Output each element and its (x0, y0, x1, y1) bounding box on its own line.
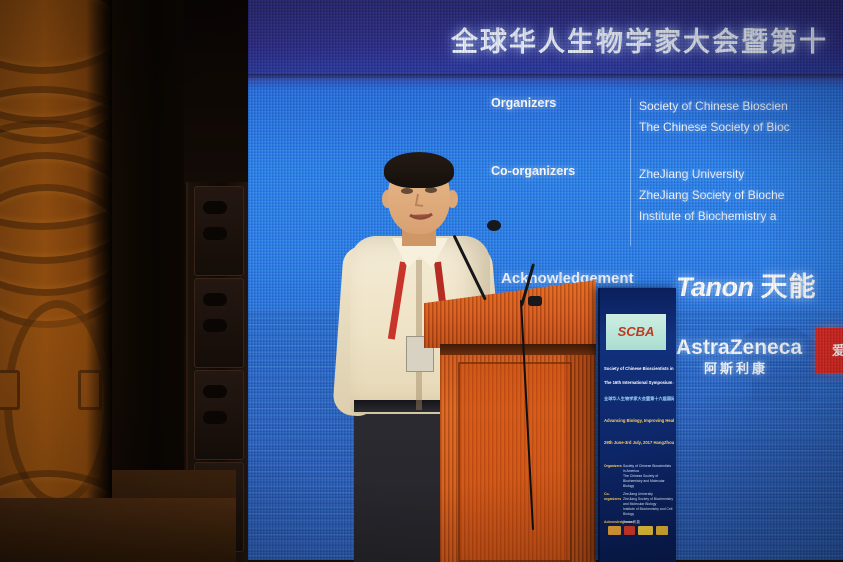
speaker-cabinet (194, 370, 244, 460)
mini-sponsor-logo (656, 526, 668, 535)
banner-ack-vals: Tanon 天能 (623, 520, 674, 525)
banner-line-1: Society of Chinese Bioscientists in Amer… (604, 366, 674, 372)
podium-banner: SCBA Society of Chinese Bioscientists in… (598, 288, 676, 562)
mini-sponsor-logo (608, 526, 621, 535)
banner-coorg-entry: ZheJiang Society of Biochemistry and Mol… (623, 497, 674, 507)
panel-clip-left (0, 370, 20, 410)
microphone-base (528, 296, 542, 306)
scba-logo: SCBA (606, 314, 666, 350)
person-hair (384, 152, 454, 188)
mini-sponsor-logo (624, 526, 635, 535)
banner-ack-entry: Tanon 天能 (623, 520, 674, 525)
banner-line-2: The 16th International Symposium (2017 S… (604, 380, 674, 386)
banner-organizers-row: Organizers Society of Chinese Bioscienti… (604, 464, 674, 489)
banner-lower-block: Organizers Society of Chinese Bioscienti… (604, 464, 674, 528)
conference-photo-scene: 全球华人生物学家大会暨第十 Organizers Society of Chin… (0, 0, 843, 562)
banner-line-5: 29th June-3rd July, 2017 HangZhou, China (604, 440, 674, 446)
mini-sponsor-logo (638, 526, 653, 535)
podium-front-inset (458, 362, 572, 562)
banner-line-4: Advancing Biology, Improving Health (604, 418, 674, 424)
banner-ack-key: Acknowledgement (604, 520, 620, 525)
banner-acknowledgement-row: Acknowledgement Tanon 天能 (604, 520, 674, 525)
podium-lip (440, 344, 596, 355)
shirt-placket (416, 260, 422, 410)
banner-line-3: 全球华人生物学家大会暨第十六届国际学术研讨会 (604, 396, 674, 402)
panel-edge-shadow (86, 0, 112, 562)
banner-sponsor-logo-row (608, 526, 668, 535)
banner-co-organizers-key: Co-organizers (604, 492, 620, 517)
banner-co-organizers-row: Co-organizers ZheJiang University ZheJia… (604, 492, 674, 517)
banner-coorg-entry: Institute of Biochemistry and Cell Biolo… (623, 507, 674, 517)
ornate-wall-panel (0, 0, 112, 562)
speaker-cabinet (194, 186, 244, 276)
microphone-capsule-icon (487, 220, 501, 231)
speaker-cabinet (194, 278, 244, 368)
scba-logo-text: SCBA (606, 314, 666, 350)
speaker-stack-shadow (184, 0, 248, 184)
banner-co-organizers-vals: ZheJiang University ZheJiang Society of … (623, 492, 674, 517)
banner-org-entry: The Chinese Society of Biochemistry and … (623, 474, 674, 489)
banner-organizers-vals: Society of Chinese Bioscientists in Amer… (623, 464, 674, 489)
stage-floor (0, 498, 236, 562)
banner-org-entry: Society of Chinese Bioscientists in Amer… (623, 464, 674, 474)
banner-organizers-key: Organizers (604, 464, 620, 489)
